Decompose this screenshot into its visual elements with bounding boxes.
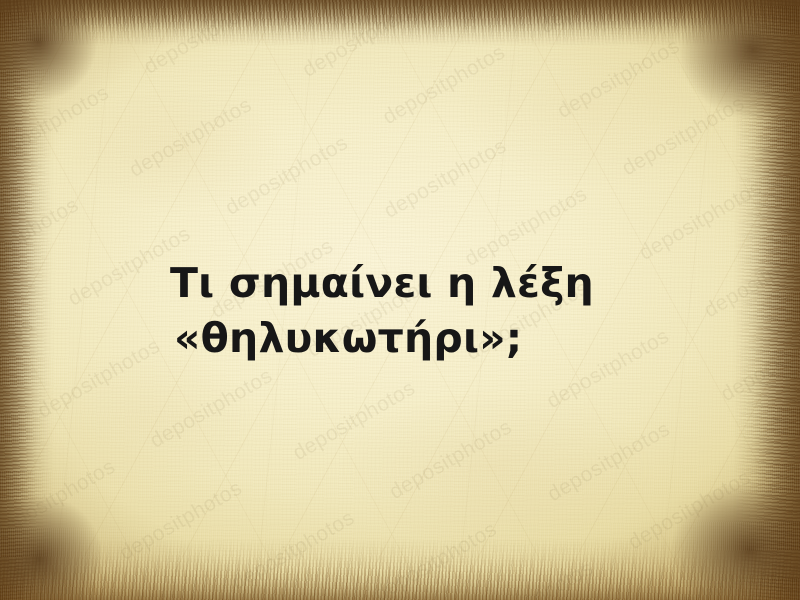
slide-title-line-1: Τι σημαίνει η λέξη — [170, 256, 640, 311]
slide-title-line-2: «θηλυκωτήρι»; — [174, 311, 640, 366]
slide-canvas: depositphotos depositphotos depositphoto… — [0, 0, 800, 600]
slide-text-block: Τι σημαίνει η λέξη «θηλυκωτήρι»; — [170, 256, 640, 365]
